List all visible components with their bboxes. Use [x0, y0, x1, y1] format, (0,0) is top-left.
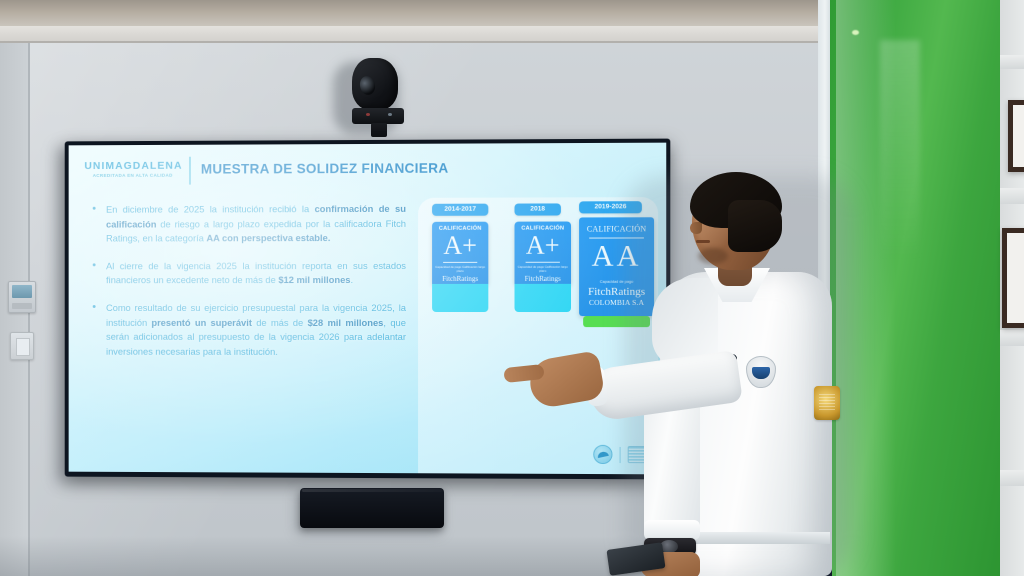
- logo-name: UNIMAGDALENA: [84, 161, 181, 172]
- bullet-item: Al cierre de la vigencia 2025 la institu…: [90, 259, 406, 288]
- soundbar: [300, 488, 444, 528]
- wall-shelf-lower: [1000, 330, 1024, 346]
- header-divider: [189, 157, 191, 185]
- thermostat-buttons[interactable]: [12, 303, 32, 309]
- rating-subtext: Capacidad de pago Calificación largo pla…: [432, 266, 488, 273]
- green-column-highlight: [852, 30, 859, 35]
- wall-shelf-top: [1000, 55, 1024, 69]
- rating-grade: A+: [515, 233, 572, 259]
- wall-display[interactable]: UNIMAGDALENA ACREDITADA EN ALTA CALIDAD …: [65, 139, 671, 480]
- gold-sleeve-patch: [814, 386, 840, 420]
- bullet-item: En diciembre de 2025 la institución reci…: [90, 202, 406, 246]
- bullet-item: Como resultado de su ejercicio presupues…: [90, 301, 406, 359]
- rating-card: CALIFICACIÓN A+ Capacidad de pago Califi…: [432, 222, 488, 284]
- rating-grade: A+: [432, 233, 488, 259]
- switch-rocker[interactable]: [16, 338, 30, 356]
- jaw-shadow: [698, 248, 728, 264]
- rating-card-footer: [515, 284, 572, 312]
- light-switch[interactable]: [10, 332, 34, 360]
- wall-shelf-bottom: [1000, 470, 1024, 486]
- rating-card: CALIFICACIÓN A+ Capacidad de pago Califi…: [515, 222, 572, 284]
- logo-tagline: ACREDITADA EN ALTA CALIDAD: [84, 173, 181, 178]
- presenter-right-cuff: [644, 520, 700, 540]
- camera-mount-stem: [371, 123, 387, 137]
- presenter-hair-side: [728, 200, 782, 252]
- period-chip: 2018: [515, 203, 561, 215]
- agency-name: FitchRatings: [432, 275, 488, 283]
- camera-base: [352, 108, 404, 124]
- slide-title: MUESTRA DE SOLIDEZ FINANCIERA: [201, 161, 449, 177]
- period-chip: 2014-2017: [432, 204, 488, 216]
- presenter-nose: [690, 222, 702, 234]
- thermostat-panel[interactable]: [8, 281, 36, 313]
- rating-card-footer: [432, 284, 488, 312]
- unimagdalena-logo: UNIMAGDALENA ACREDITADA EN ALTA CALIDAD: [84, 161, 181, 178]
- presenter: [600, 160, 900, 576]
- framed-picture-bottom: [1002, 228, 1024, 328]
- display-screen[interactable]: UNIMAGDALENA ACREDITADA EN ALTA CALIDAD …: [69, 143, 667, 475]
- agency-name: FitchRatings: [515, 275, 572, 283]
- presenter-mouth: [696, 240, 710, 243]
- wall-shelf-middle: [1000, 188, 1024, 204]
- slide-header: UNIMAGDALENA ACREDITADA EN ALTA CALIDAD …: [69, 149, 667, 187]
- framed-picture-top: [1008, 100, 1024, 172]
- slide-bullet-list: En diciembre de 2025 la institución reci…: [90, 202, 406, 373]
- thermostat-screen: [12, 285, 32, 298]
- conference-room-scene: UNIMAGDALENA ACREDITADA EN ALTA CALIDAD …: [0, 0, 1024, 576]
- rating-subtext: Capacidad de pago Calificación largo pla…: [515, 266, 572, 273]
- camera-indicator-led: [388, 113, 392, 116]
- camera-status-led: [366, 113, 370, 116]
